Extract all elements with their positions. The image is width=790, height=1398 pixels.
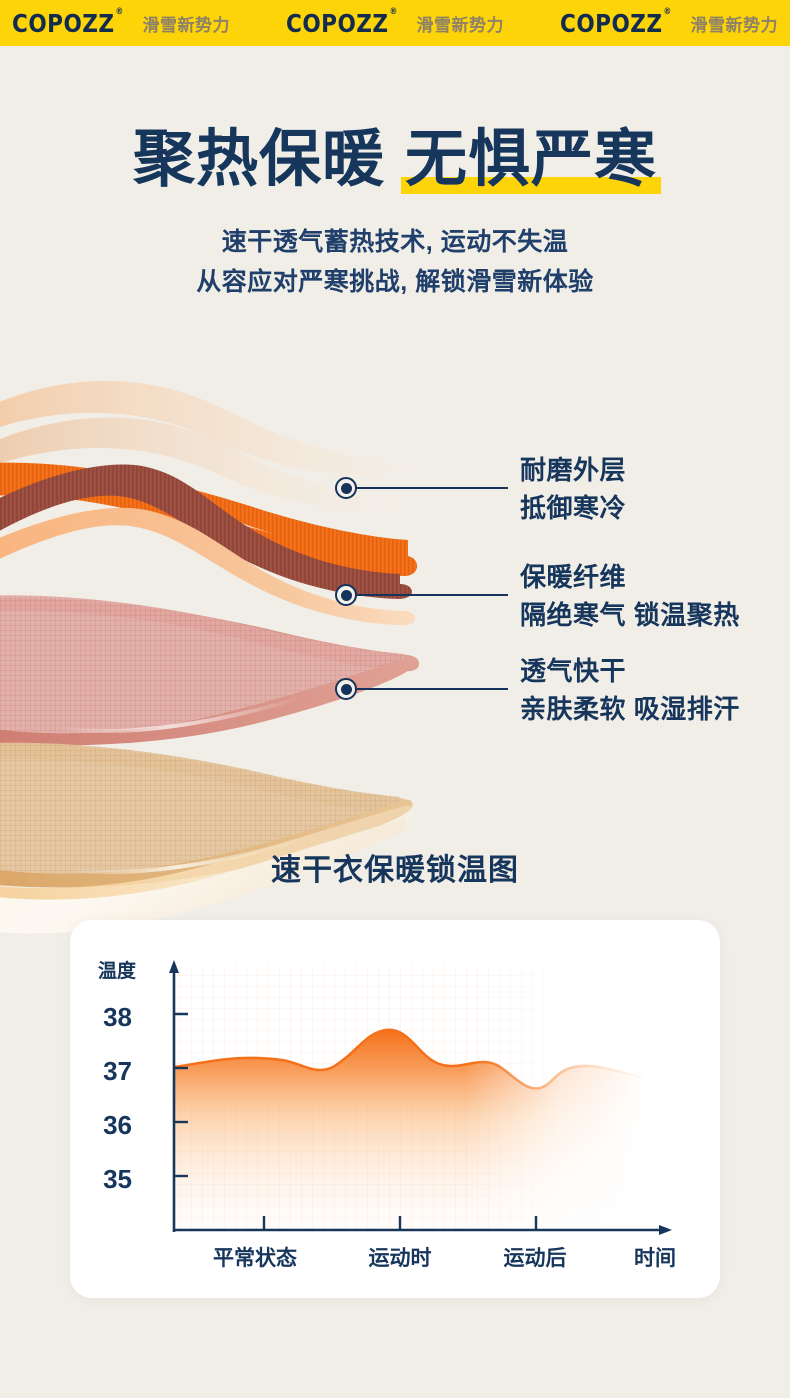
subtitle-line-1: 速干透气蓄热技术, 运动不失温 [0, 222, 790, 262]
callout-desc: 隔绝寒气 锁温聚热 [520, 600, 740, 630]
callout-leader-line [356, 487, 508, 489]
registered-trademark-icon: ® [664, 7, 672, 17]
page-subtitle: 速干透气蓄热技术, 运动不失温 从容应对严寒挑战, 解锁滑雪新体验 [0, 222, 790, 302]
registered-trademark-icon: ® [390, 7, 398, 17]
subtitle-line-2: 从容应对严寒挑战, 解锁滑雪新体验 [0, 262, 790, 302]
callout-desc: 亲肤柔软 吸湿排汗 [520, 694, 740, 724]
copozz-logo: COPOZZ® [560, 9, 671, 38]
callout-leader-line [356, 594, 508, 596]
fabric-layers-illustration [0, 360, 470, 890]
callout-desc: 抵御寒冷 [520, 493, 626, 523]
copozz-logo: COPOZZ® [12, 9, 123, 38]
callout-marker-icon [335, 477, 357, 499]
callout-text: 耐磨外层 抵御寒冷 [520, 451, 626, 527]
chart-plot-area [70, 920, 720, 1298]
callout-leader-line [356, 688, 508, 690]
brand-slogan: 滑雪新势力 [690, 11, 778, 36]
page-title: 聚热保暖无惧严寒 [0, 108, 790, 198]
chart-title: 速干衣保暖锁温图 [0, 845, 790, 889]
brand-slogan: 滑雪新势力 [142, 11, 230, 36]
headline-plain-part: 聚热保暖 [133, 125, 385, 194]
temperature-chart-card: 温度 38 37 36 35 平常状态 运动时 运动后 时间 [70, 920, 720, 1298]
brand-unit: COPOZZ® 滑雪新势力 [286, 9, 504, 38]
callout-title: 耐磨外层 [520, 455, 626, 485]
callout-marker-icon [335, 678, 357, 700]
brand-slogan: 滑雪新势力 [416, 11, 504, 36]
registered-trademark-icon: ® [116, 7, 124, 17]
chart-series-area [174, 965, 654, 1230]
callout-title: 保暖纤维 [520, 562, 626, 592]
copozz-logo: COPOZZ® [286, 9, 397, 38]
callout-text: 透气快干 亲肤柔软 吸湿排汗 [520, 652, 740, 728]
callout-text: 保暖纤维 隔绝寒气 锁温聚热 [520, 558, 740, 634]
callout-title: 透气快干 [520, 656, 626, 686]
brand-unit: COPOZZ® 滑雪新势力 [12, 9, 230, 38]
brand-unit: COPOZZ® 滑雪新势力 [560, 9, 778, 38]
brand-banner: COPOZZ® 滑雪新势力 COPOZZ® 滑雪新势力 COPOZZ® 滑雪新势… [0, 0, 790, 46]
callout-marker-icon [335, 584, 357, 606]
headline-highlighted-part: 无惧严寒 [405, 108, 657, 198]
